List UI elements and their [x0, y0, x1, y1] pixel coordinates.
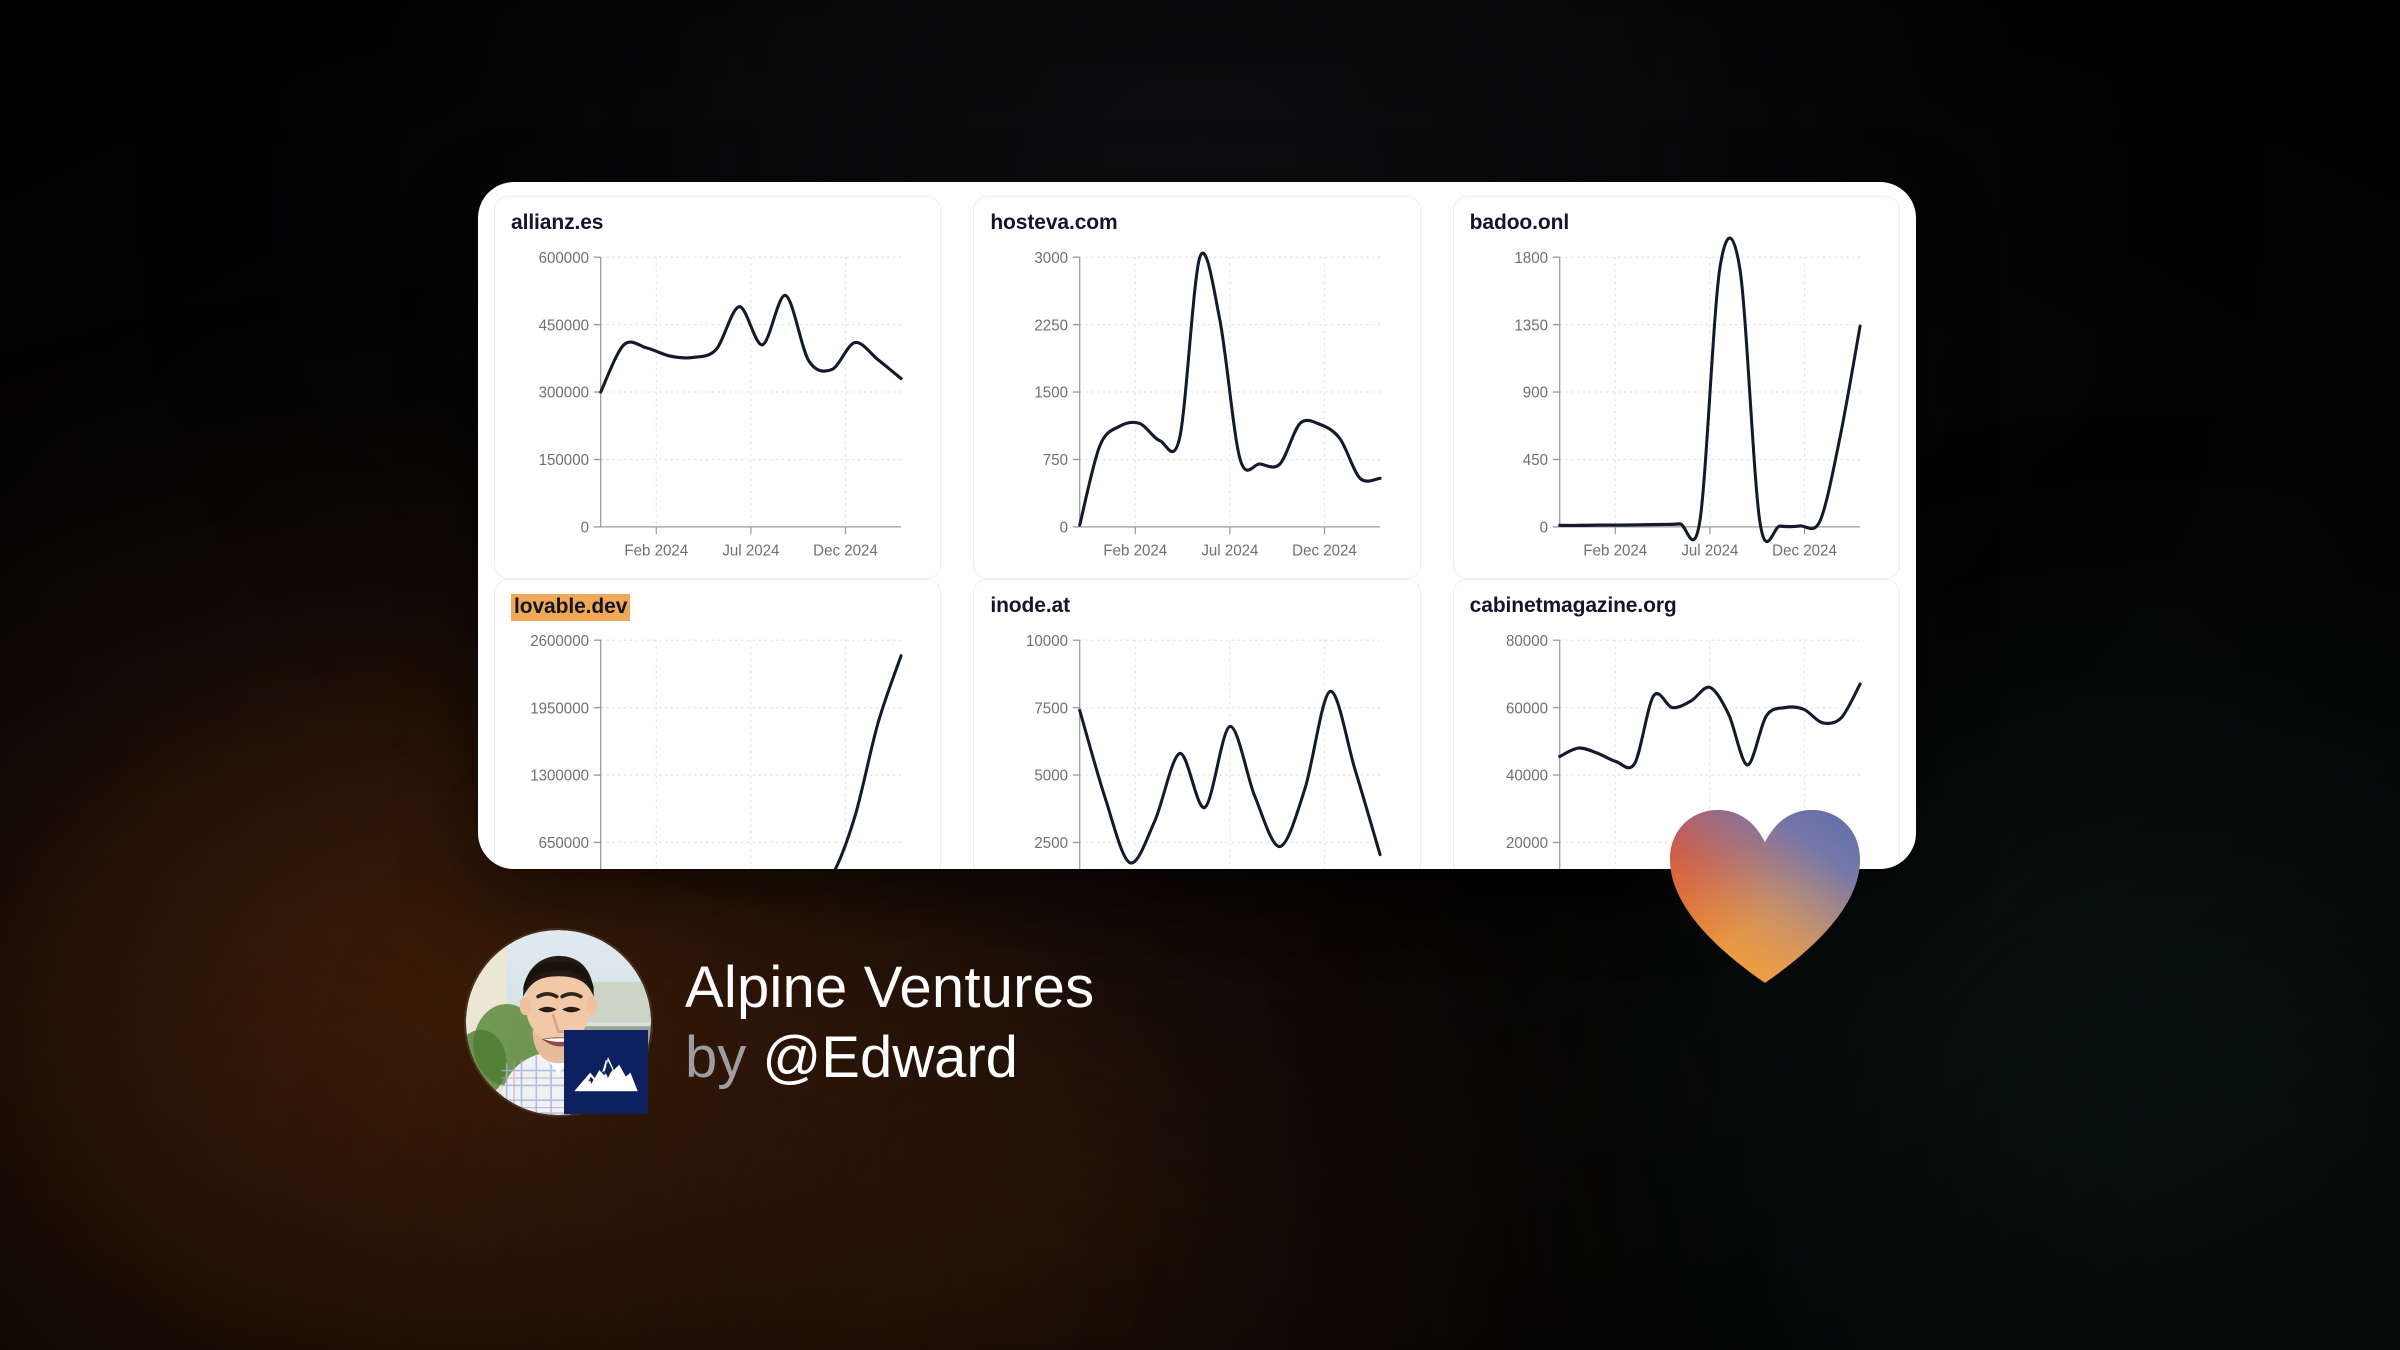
- y-tick-label: 60000: [1506, 700, 1548, 717]
- y-tick-label: 0: [581, 519, 590, 536]
- charts-panel: allianz.es0150000300000450000600000Feb 2…: [478, 182, 1916, 869]
- x-tick-label: Feb 2024: [1583, 542, 1647, 559]
- y-tick-label: 2250: [1035, 317, 1069, 334]
- x-tick-label: Dec 2024: [1772, 542, 1837, 559]
- byline: by @Edward: [685, 1024, 1094, 1091]
- y-tick-label: 150000: [539, 452, 590, 469]
- chart-card[interactable]: badoo.onl045090013501800Feb 2024Jul 2024…: [1453, 196, 1900, 579]
- y-tick-label: 750: [1043, 452, 1069, 469]
- y-tick-label: 20000: [1506, 835, 1548, 852]
- chart-card[interactable]: inode.at25005000750010000Feb 2024Jul 202…: [973, 579, 1420, 869]
- chart-title: lovable.dev: [511, 594, 630, 621]
- y-tick-label: 600000: [539, 250, 590, 267]
- y-tick-label: 0: [1060, 519, 1069, 536]
- y-tick-label: 1500: [1035, 384, 1069, 401]
- y-tick-label: 300000: [539, 384, 590, 401]
- chart-plot-area: 045090013501800Feb 2024Jul 2024Dec 2024: [1470, 249, 1889, 572]
- mountain-logo-badge: [564, 1030, 648, 1114]
- y-tick-label: 80000: [1506, 633, 1548, 650]
- chart-plot-area: 0750150022503000Feb 2024Jul 2024Dec 2024: [990, 249, 1409, 572]
- chart-card[interactable]: hosteva.com0750150022503000Feb 2024Jul 2…: [973, 196, 1420, 579]
- series-line: [1080, 253, 1380, 525]
- charts-grid: allianz.es0150000300000450000600000Feb 2…: [478, 182, 1916, 869]
- identity-footer: Alpine Ventures by @Edward: [466, 930, 1094, 1115]
- y-tick-label: 1300000: [530, 767, 589, 784]
- chart-title: badoo.onl: [1470, 211, 1569, 236]
- x-tick-label: Feb 2024: [624, 542, 688, 559]
- y-tick-label: 0: [1539, 519, 1548, 536]
- identity-titles: Alpine Ventures by @Edward: [685, 954, 1094, 1091]
- y-tick-label: 3000: [1035, 250, 1069, 267]
- mountain-icon: [573, 1049, 639, 1095]
- x-tick-label: Dec 2024: [813, 542, 878, 559]
- chart-card[interactable]: allianz.es0150000300000450000600000Feb 2…: [494, 196, 941, 579]
- chart-title: inode.at: [990, 594, 1070, 619]
- byline-prefix: by: [685, 1025, 746, 1090]
- chart-card[interactable]: lovable.dev650000130000019500002600000Fe…: [494, 579, 941, 869]
- x-tick-label: Jul 2024: [1681, 542, 1738, 559]
- y-tick-label: 900: [1522, 384, 1548, 401]
- chart-plot-area: 0150000300000450000600000Feb 2024Jul 202…: [511, 249, 930, 572]
- y-tick-label: 1950000: [530, 700, 589, 717]
- chart-title: allianz.es: [511, 211, 603, 236]
- y-tick-label: 2500: [1035, 835, 1069, 852]
- y-tick-label: 5000: [1035, 767, 1069, 784]
- page-title: Alpine Ventures: [685, 954, 1094, 1021]
- y-tick-label: 650000: [539, 835, 590, 852]
- byline-handle: @Edward: [762, 1025, 1018, 1090]
- y-tick-label: 7500: [1035, 700, 1069, 717]
- chart-title: hosteva.com: [990, 211, 1117, 236]
- chart-plot-area: 650000130000019500002600000Feb 2024Jul 2…: [511, 632, 930, 869]
- chart-plot-area: 25005000750010000Feb 2024Jul 2024Dec 202…: [990, 632, 1409, 869]
- y-tick-label: 450000: [539, 317, 590, 334]
- x-tick-label: Feb 2024: [1104, 542, 1168, 559]
- series-line: [601, 656, 901, 869]
- y-tick-label: 40000: [1506, 767, 1548, 784]
- x-tick-label: Jul 2024: [722, 542, 779, 559]
- chart-title: cabinetmagazine.org: [1470, 594, 1677, 619]
- y-tick-label: 450: [1522, 452, 1548, 469]
- y-tick-label: 2600000: [530, 633, 589, 650]
- x-tick-label: Jul 2024: [1202, 542, 1259, 559]
- x-tick-label: Dec 2024: [1292, 542, 1357, 559]
- y-tick-label: 1800: [1514, 250, 1548, 267]
- y-tick-label: 1350: [1514, 317, 1548, 334]
- y-tick-label: 10000: [1026, 633, 1068, 650]
- avatar-with-badge: [466, 930, 651, 1115]
- gradient-heart-icon: [1670, 810, 1860, 985]
